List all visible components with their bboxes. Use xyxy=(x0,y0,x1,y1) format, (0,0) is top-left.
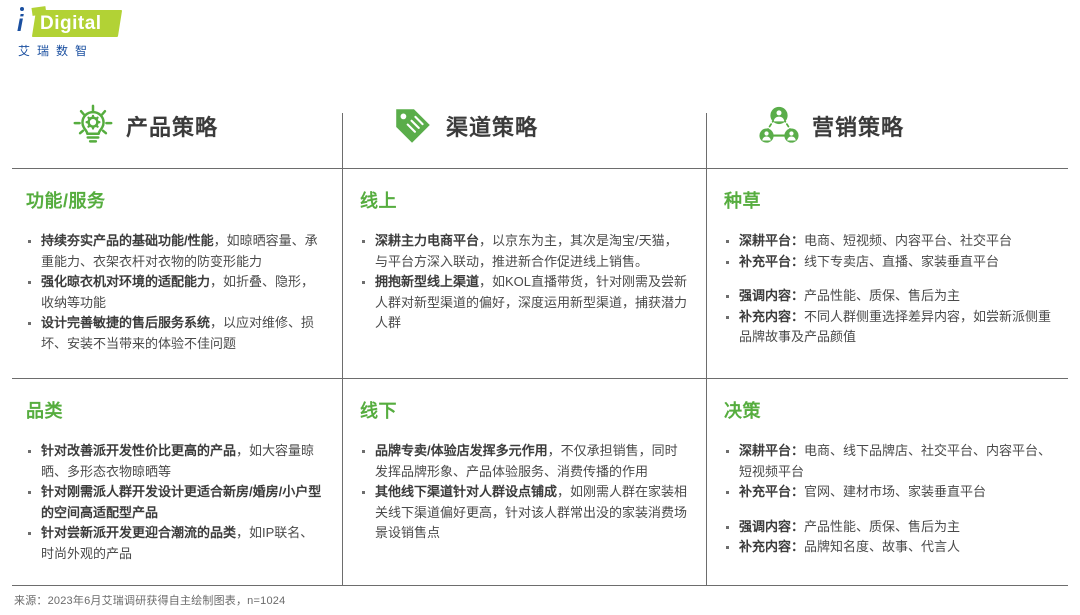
logo-letter-i: i xyxy=(17,11,23,36)
bullet-lead: 设计完善敏捷的售后服务系统 xyxy=(41,315,210,330)
section-heading: 品类 xyxy=(26,397,326,423)
bullet-item: 持续夯实产品的基础功能/性能，如晾晒容量、承重能力、衣架衣杆对衣物的防变形能力 xyxy=(26,231,326,272)
bullet-text: 产品性能、质保、售后为主 xyxy=(804,288,960,303)
bullet-text: 品牌知名度、故事、代言人 xyxy=(804,539,960,554)
section-heading: 线上 xyxy=(360,187,690,213)
bullet-lead: 强调内容： xyxy=(739,288,804,303)
bullet-item: 品牌专卖/体验店发挥多元作用，不仅承担销售，同时发挥品牌形象、产品体验服务、消费… xyxy=(360,441,690,482)
row-divider-bottom xyxy=(12,585,1068,586)
bullet-lead: 品牌专卖/体验店发挥多元作用 xyxy=(375,443,548,458)
source-note: 来源：2023年6月艾瑞调研获得自主绘制图表，n=1024 xyxy=(14,592,285,608)
cell-channel-online: 线上 深耕主力电商平台，以京东为主，其次是淘宝/天猫，与平台方深入联动，推进新合… xyxy=(342,169,706,378)
logo-i-text: i xyxy=(17,10,23,36)
bullet-groups: 品牌专卖/体验店发挥多元作用，不仅承担销售，同时发挥品牌形象、产品体验服务、消费… xyxy=(360,441,690,544)
bullet-group-spacer xyxy=(724,503,1052,517)
bullet-lead: 针对改善派开发性价比更高的产品 xyxy=(41,443,236,458)
bullet-groups: 针对改善派开发性价比更高的产品，如大容量晾晒、多形态衣物晾晒等针对刚需派人群开发… xyxy=(26,441,326,564)
bullet-lead: 拥抱新型线上渠道 xyxy=(375,274,479,289)
bullet-item: 强化晾衣机对环境的适配能力，如折叠、隐形，收纳等功能 xyxy=(26,272,326,313)
column-header-title: 产品策略 xyxy=(126,110,218,142)
bullet-item: 补充内容：品牌知名度、故事、代言人 xyxy=(724,537,1052,558)
bullet-groups: 深耕平台：电商、短视频、内容平台、社交平台补充平台：线下专卖店、直播、家装垂直平… xyxy=(724,231,1052,348)
bullet-groups: 持续夯实产品的基础功能/性能，如晾晒容量、承重能力、衣架衣杆对衣物的防变形能力强… xyxy=(26,231,326,354)
bullet-lead: 针对刚需派人群开发设计更适合新房/婚房/小户型的空间高适配型产品 xyxy=(41,484,321,520)
bullet-item: 补充内容：不同人群侧重选择差异内容，如尝新派侧重品牌故事及产品颜值 xyxy=(724,307,1052,348)
bullet-lead: 深耕主力电商平台 xyxy=(375,233,479,248)
bullet-list: 针对改善派开发性价比更高的产品，如大容量晾晒、多形态衣物晾晒等针对刚需派人群开发… xyxy=(26,441,326,564)
bullet-item: 强调内容：产品性能、质保、售后为主 xyxy=(724,517,1052,538)
logo-mark: i Digital xyxy=(14,10,120,37)
bullet-lead: 深耕平台： xyxy=(739,443,804,458)
column-header-title: 营销策略 xyxy=(812,110,904,142)
bullet-item: 深耕主力电商平台，以京东为主，其次是淘宝/天猫，与平台方深入联动，推进新合作促进… xyxy=(360,231,690,272)
bullet-list: 品牌专卖/体验店发挥多元作用，不仅承担销售，同时发挥品牌形象、产品体验服务、消费… xyxy=(360,441,690,544)
section-heading: 决策 xyxy=(724,397,1052,423)
cell-marketing-decision: 决策 深耕平台：电商、线下品牌店、社交平台、内容平台、短视频平台补充平台：官网、… xyxy=(706,379,1068,585)
bullet-lead: 强调内容： xyxy=(739,519,804,534)
bullet-list: 深耕平台：电商、短视频、内容平台、社交平台补充平台：线下专卖店、直播、家装垂直平… xyxy=(724,231,1052,272)
section-heading: 功能/服务 xyxy=(26,187,326,213)
bullet-lead: 补充平台： xyxy=(739,484,804,499)
logo-wordmark: Digital xyxy=(40,12,102,35)
column-header-product: 产品策略 xyxy=(12,84,342,168)
bullet-list: 持续夯实产品的基础功能/性能，如晾晒容量、承重能力、衣架衣杆对衣物的防变形能力强… xyxy=(26,231,326,354)
bullet-lead: 持续夯实产品的基础功能/性能 xyxy=(41,233,214,248)
bullet-item: 其他线下渠道针对人群设点铺成，如刚需人群在家装相关线下渠道偏好更高，针对该人群常… xyxy=(360,482,690,544)
bullet-text: 官网、建材市场、家装垂直平台 xyxy=(804,484,986,499)
bullet-list: 强调内容：产品性能、质保、售后为主补充内容：不同人群侧重选择差异内容，如尝新派侧… xyxy=(724,286,1052,348)
bullet-list: 深耕平台：电商、线下品牌店、社交平台、内容平台、短视频平台补充平台：官网、建材市… xyxy=(724,441,1052,503)
cell-marketing-seeding: 种草 深耕平台：电商、短视频、内容平台、社交平台补充平台：线下专卖店、直播、家装… xyxy=(706,169,1068,378)
bullet-item: 补充平台：官网、建材市场、家装垂直平台 xyxy=(724,482,1052,503)
brand-logo: i Digital 艾瑞数智 xyxy=(14,10,194,58)
cell-product-category: 品类 针对改善派开发性价比更高的产品，如大容量晾晒、多形态衣物晾晒等针对刚需派人… xyxy=(12,379,342,585)
bullet-lead: 强化晾衣机对环境的适配能力 xyxy=(41,274,210,289)
column-header-marketing: 营销策略 xyxy=(706,84,1068,168)
bullet-item: 针对改善派开发性价比更高的产品，如大容量晾晒、多形态衣物晾晒等 xyxy=(26,441,326,482)
bullet-text: 线下专卖店、直播、家装垂直平台 xyxy=(804,254,999,269)
price-tag-icon xyxy=(390,103,436,149)
bullet-lead: 补充内容： xyxy=(739,539,804,554)
section-heading: 线下 xyxy=(360,397,690,423)
cell-channel-offline: 线下 品牌专卖/体验店发挥多元作用，不仅承担销售，同时发挥品牌形象、产品体验服务… xyxy=(342,379,706,585)
bullet-lead: 其他线下渠道针对人群设点铺成 xyxy=(375,484,557,499)
bullet-lead: 补充平台： xyxy=(739,254,804,269)
column-header-title: 渠道策略 xyxy=(446,110,538,142)
bullet-text: 产品性能、质保、售后为主 xyxy=(804,519,960,534)
bullet-list: 强调内容：产品性能、质保、售后为主补充内容：品牌知名度、故事、代言人 xyxy=(724,517,1052,558)
cell-product-function: 功能/服务 持续夯实产品的基础功能/性能，如晾晒容量、承重能力、衣架衣杆对衣物的… xyxy=(12,169,342,378)
logo-i-dot xyxy=(20,7,24,11)
table-row: 功能/服务 持续夯实产品的基础功能/性能，如晾晒容量、承重能力、衣架衣杆对衣物的… xyxy=(12,169,1068,378)
bullet-groups: 深耕平台：电商、线下品牌店、社交平台、内容平台、短视频平台补充平台：官网、建材市… xyxy=(724,441,1052,558)
bullet-item: 针对尝新派开发更迎合潮流的品类，如IP联名、时尚外观的产品 xyxy=(26,523,326,564)
bullet-item: 补充平台：线下专卖店、直播、家装垂直平台 xyxy=(724,252,1052,273)
logo-chinese-name: 艾瑞数智 xyxy=(14,42,194,59)
table-header-row: 产品策略 渠道策略 xyxy=(12,84,1068,168)
bullet-item: 深耕平台：电商、短视频、内容平台、社交平台 xyxy=(724,231,1052,252)
table-row: 品类 针对改善派开发性价比更高的产品，如大容量晾晒、多形态衣物晾晒等针对刚需派人… xyxy=(12,379,1068,585)
strategy-table: 产品策略 渠道策略 xyxy=(12,84,1068,586)
lightbulb-gear-icon xyxy=(70,103,116,149)
bullet-lead: 补充内容： xyxy=(739,309,804,324)
people-network-icon xyxy=(756,103,802,149)
bullet-item: 深耕平台：电商、线下品牌店、社交平台、内容平台、短视频平台 xyxy=(724,441,1052,482)
bullet-list: 深耕主力电商平台，以京东为主，其次是淘宝/天猫，与平台方深入联动，推进新合作促进… xyxy=(360,231,690,334)
bullet-text: 电商、短视频、内容平台、社交平台 xyxy=(804,233,1012,248)
bullet-lead: 针对尝新派开发更迎合潮流的品类 xyxy=(41,525,236,540)
bullet-item: 设计完善敏捷的售后服务系统，以应对维修、损坏、安装不当带来的体验不佳问题 xyxy=(26,313,326,354)
section-heading: 种草 xyxy=(724,187,1052,213)
column-header-channel: 渠道策略 xyxy=(342,84,706,168)
bullet-item: 强调内容：产品性能、质保、售后为主 xyxy=(724,286,1052,307)
bullet-groups: 深耕主力电商平台，以京东为主，其次是淘宝/天猫，与平台方深入联动，推进新合作促进… xyxy=(360,231,690,334)
bullet-group-spacer xyxy=(724,272,1052,286)
slide-root: i Digital 艾瑞数智 xyxy=(0,0,1080,615)
bullet-item: 针对刚需派人群开发设计更适合新房/婚房/小户型的空间高适配型产品 xyxy=(26,482,326,523)
bullet-lead: 深耕平台： xyxy=(739,233,804,248)
bullet-item: 拥抱新型线上渠道，如KOL直播带货，针对刚需及尝新人群对新型渠道的偏好，深度运用… xyxy=(360,272,690,334)
